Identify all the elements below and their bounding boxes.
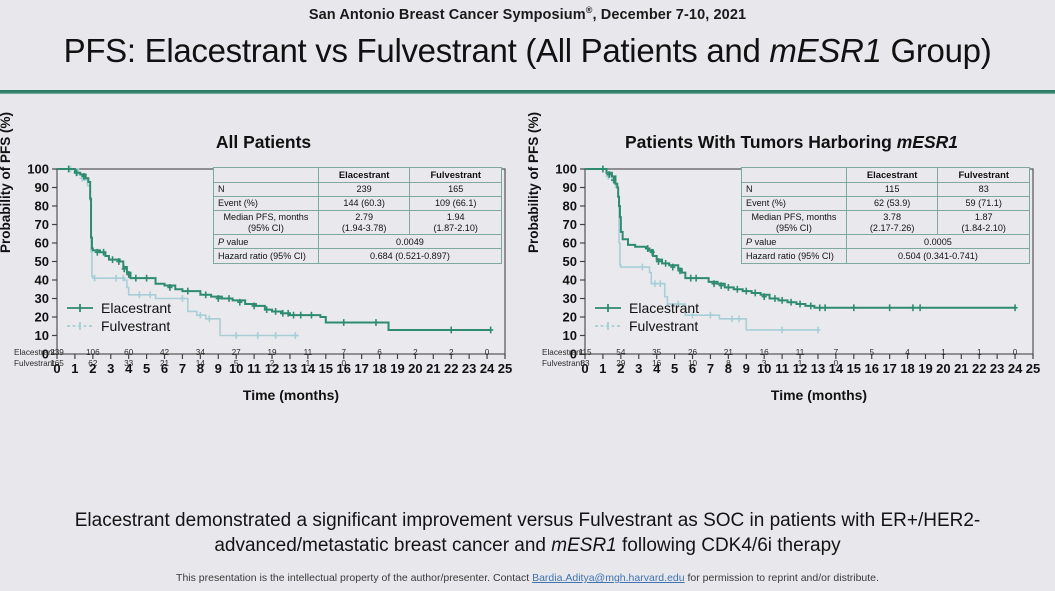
y-tick-label: 20: [35, 310, 49, 325]
median-pfs-line2: (95% CI): [248, 223, 284, 233]
y-tick-label: 80: [35, 199, 49, 214]
conclusion-line-1: Elacestrant demonstrated a significant i…: [0, 508, 1055, 533]
table-row: Hazard ratio (95% CI) 0.684 (0.521-0.897…: [214, 249, 502, 263]
median-val: 3.78: [883, 212, 901, 222]
conclusion-line2-italic: mESR1: [551, 535, 616, 556]
stats-label-n: N: [214, 182, 319, 196]
risk-value: 2: [406, 348, 424, 359]
stats-label-hr: Hazard ratio (95% CI): [214, 249, 319, 263]
legend-label: Fulvestrant: [629, 318, 698, 334]
risk-value: 6: [371, 348, 389, 359]
conference-dates: , December 7-10, 2021: [593, 7, 747, 23]
table-row: Median PFS, months(95% CI) 3.78(2.17-7.2…: [742, 210, 1030, 234]
stats-label-event: Event (%): [742, 196, 847, 210]
page-title: PFS: Elacestrant vs Fulvestrant (All Pat…: [0, 32, 1055, 70]
stats-label-n: N: [742, 182, 847, 196]
conference-name: San Antonio Breast Cancer Symposium: [309, 7, 586, 23]
y-tick-label: 50: [563, 254, 577, 269]
y-tick-label: 60: [563, 236, 577, 251]
median-ci: (2.17-7.26): [870, 223, 914, 233]
y-tick-label: 70: [35, 217, 49, 232]
median-pfs-line1: Median PFS, months: [223, 212, 308, 222]
risk-value: 2: [442, 348, 460, 359]
risk-value: 5: [227, 359, 245, 370]
risk-value: 21: [156, 359, 174, 370]
p-rest: value: [752, 237, 776, 247]
table-header-row: Elacestrant Fulvestrant: [742, 168, 1030, 183]
y-tick-label: 100: [555, 162, 577, 177]
stats-pvalue: 0.0005: [846, 235, 1029, 249]
median-pfs-line1: Median PFS, months: [751, 212, 836, 222]
stats-label-hr: Hazard ratio (95% CI): [742, 249, 847, 263]
stats-label-median-pfs: Median PFS, months(95% CI): [214, 210, 319, 234]
risk-table-all-patients: Elacestrant23910660423427191176220Fulves…: [14, 348, 524, 370]
y-tick-label: 30: [35, 291, 49, 306]
risk-row: Fulvestrant832916108310: [542, 359, 1052, 370]
table-row: Hazard ratio (95% CI) 0.504 (0.341-0.741…: [742, 249, 1030, 263]
stats-col-blank: [742, 168, 847, 183]
risk-value: 0: [1006, 348, 1024, 359]
y-tick-label: 20: [563, 310, 577, 325]
page-title-part1: PFS: Elacestrant vs Fulvestrant (All Pat…: [64, 32, 770, 69]
stats-hr-value: 0.684 (0.521-0.897): [318, 249, 501, 263]
y-axis-label-left: Probability of PFS (%): [0, 112, 13, 253]
y-tick-label: 10: [35, 328, 49, 343]
risk-value: 1: [791, 359, 809, 370]
stats-event-fulvestrant: 59 (71.1): [938, 196, 1030, 210]
risk-value: 115: [576, 348, 594, 359]
stats-label-event: Event (%): [214, 196, 319, 210]
y-tick-label: 90: [563, 180, 577, 195]
median-pfs-line2: (95% CI): [776, 223, 812, 233]
y-tick-label: 90: [35, 180, 49, 195]
y-tick-label: 40: [35, 273, 49, 288]
stats-label-pvalue: P value: [214, 235, 319, 249]
contact-email-link[interactable]: Bardia.Aditya@mgh.harvard.edu: [532, 572, 685, 584]
median-val: 1.94: [447, 212, 465, 222]
risk-value: 1: [970, 348, 988, 359]
stats-col-fulvestrant: Fulvestrant: [410, 168, 502, 183]
stats-hr-value: 0.504 (0.341-0.741): [846, 249, 1029, 263]
median-ci: (1.87-2.10): [433, 223, 477, 233]
y-tick-label: 70: [563, 217, 577, 232]
registered-mark: ®: [586, 5, 593, 15]
stats-table-mesr1: Elacestrant Fulvestrant N 115 83 Event (…: [741, 167, 1030, 264]
risk-value: 3: [755, 359, 773, 370]
risk-value: 1: [299, 359, 317, 370]
x-axis-label-right: Time (months): [528, 387, 1055, 403]
stats-label-pvalue: P value: [742, 235, 847, 249]
stats-median-elacestrant: 2.79(1.94-3.78): [318, 210, 410, 234]
risk-value: 1: [934, 348, 952, 359]
risk-value: 165: [48, 359, 66, 370]
conclusion-text: Elacestrant demonstrated a significant i…: [0, 508, 1055, 559]
risk-value: 33: [120, 359, 138, 370]
risk-value: 0: [478, 348, 496, 359]
page-title-italic: mESR1: [769, 32, 881, 69]
chart-wrap-mesr1: Probability of PFS (%) 01020304050607080…: [528, 161, 1055, 411]
stats-median-fulvestrant: 1.87(1.84-2.10): [938, 210, 1030, 234]
conclusion-line2-a: advanced/metastatic breast cancer and: [214, 535, 551, 556]
stats-col-elacestrant: Elacestrant: [846, 168, 938, 183]
risk-value: 10: [684, 359, 702, 370]
footer-disclaimer: This presentation is the intellectual pr…: [0, 572, 1055, 584]
stats-n-fulvestrant: 83: [938, 182, 1030, 196]
risk-value: 16: [648, 359, 666, 370]
risk-value: 0: [827, 359, 845, 370]
table-row: Event (%) 144 (60.3) 109 (66.1): [214, 196, 502, 210]
title-divider: [0, 90, 1055, 94]
panel-title-mesr1: Patients With Tumors Harboring mESR1: [528, 100, 1055, 153]
panel-title-italic: mESR1: [897, 132, 958, 152]
table-row: N 115 83: [742, 182, 1030, 196]
risk-value: 16: [755, 348, 773, 359]
risk-value: 29: [612, 359, 630, 370]
y-axis-label-right: Probability of PFS (%): [526, 112, 541, 253]
median-val: 1.87: [975, 212, 993, 222]
y-tick-label: 100: [27, 162, 49, 177]
y-tick-label: 50: [35, 254, 49, 269]
table-header-row: Elacestrant Fulvestrant: [214, 168, 502, 183]
risk-value: 60: [120, 348, 138, 359]
risk-value: 54: [612, 348, 630, 359]
stats-col-blank: [214, 168, 319, 183]
stats-event-elacestrant: 144 (60.3): [318, 196, 410, 210]
legend-label: Fulvestrant: [101, 318, 170, 334]
page-title-part2: Group): [882, 32, 992, 69]
risk-value: 83: [576, 359, 594, 370]
risk-value: 14: [191, 359, 209, 370]
footer-after-text: for permission to reprint and/or distrib…: [685, 572, 879, 584]
risk-value: 42: [156, 348, 174, 359]
risk-value: 5: [863, 348, 881, 359]
stats-event-fulvestrant: 109 (66.1): [410, 196, 502, 210]
y-tick-label: 60: [35, 236, 49, 251]
risk-value: 34: [191, 348, 209, 359]
median-ci: (1.84-2.10): [961, 223, 1005, 233]
conclusion-line-2: advanced/metastatic breast cancer and mE…: [0, 533, 1055, 558]
legend-label: Elacestrant: [101, 300, 171, 316]
risk-value: 11: [791, 348, 809, 359]
conclusion-line1-text: Elacestrant demonstrated a significant i…: [75, 510, 981, 531]
risk-row: Fulvestrant165623321145210: [14, 359, 524, 370]
stats-median-fulvestrant: 1.94(1.87-2.10): [410, 210, 502, 234]
conclusion-line2-b: following CDK4/6i therapy: [617, 535, 841, 556]
risk-value: 11: [299, 348, 317, 359]
x-axis-label-left: Time (months): [0, 387, 527, 403]
table-row: Median PFS, months(95% CI) 2.79(1.94-3.7…: [214, 210, 502, 234]
risk-row: Elacestrant115543526211611754110: [542, 348, 1052, 359]
panel-title-all-patients: All Patients: [0, 100, 527, 153]
risk-value: 239: [48, 348, 66, 359]
panel-title-text: All Patients: [216, 132, 311, 152]
stats-event-elacestrant: 62 (53.9): [846, 196, 938, 210]
y-tick-label: 80: [563, 199, 577, 214]
risk-value: 4: [899, 348, 917, 359]
risk-table-mesr1: Elacestrant115543526211611754110Fulvestr…: [542, 348, 1052, 370]
table-row: P value 0.0005: [742, 235, 1030, 249]
risk-value: 62: [84, 359, 102, 370]
stats-median-elacestrant: 3.78(2.17-7.26): [846, 210, 938, 234]
table-row: N 239 165: [214, 182, 502, 196]
table-row: Event (%) 62 (53.9) 59 (71.1): [742, 196, 1030, 210]
risk-value: 7: [335, 348, 353, 359]
y-tick-label: 40: [563, 273, 577, 288]
stats-col-fulvestrant: Fulvestrant: [938, 168, 1030, 183]
stats-pvalue: 0.0049: [318, 235, 501, 249]
footer-before-text: This presentation is the intellectual pr…: [176, 572, 532, 584]
risk-value: 0: [335, 359, 353, 370]
y-tick-label: 10: [563, 328, 577, 343]
panel-mesr1: Patients With Tumors Harboring mESR1 Pro…: [528, 100, 1055, 411]
y-tick-label: 30: [563, 291, 577, 306]
stats-n-elacestrant: 115: [846, 182, 938, 196]
panel-title-text: Patients With Tumors Harboring: [625, 132, 897, 152]
risk-value: 35: [648, 348, 666, 359]
stats-label-median-pfs: Median PFS, months(95% CI): [742, 210, 847, 234]
risk-value: 8: [719, 359, 737, 370]
median-val: 2.79: [355, 212, 373, 222]
risk-value: 21: [719, 348, 737, 359]
legend-label: Elacestrant: [629, 300, 699, 316]
risk-value: 106: [84, 348, 102, 359]
risk-value: 26: [684, 348, 702, 359]
stats-n-elacestrant: 239: [318, 182, 410, 196]
chart-wrap-all-patients: Probability of PFS (%) 01020304050607080…: [0, 161, 527, 411]
risk-value: 27: [227, 348, 245, 359]
stats-n-fulvestrant: 165: [410, 182, 502, 196]
p-rest: value: [224, 237, 248, 247]
conference-header: San Antonio Breast Cancer Symposium®, De…: [0, 0, 1055, 23]
panel-all-patients: All Patients Probability of PFS (%) 0102…: [0, 100, 527, 411]
risk-value: 19: [263, 348, 281, 359]
risk-value: 2: [263, 359, 281, 370]
risk-value: 7: [827, 348, 845, 359]
median-ci: (1.94-3.78): [342, 223, 386, 233]
stats-col-elacestrant: Elacestrant: [318, 168, 410, 183]
risk-row: Elacestrant23910660423427191176220: [14, 348, 524, 359]
table-row: P value 0.0049: [214, 235, 502, 249]
stats-table-all-patients: Elacestrant Fulvestrant N 239 165 Event …: [213, 167, 502, 264]
